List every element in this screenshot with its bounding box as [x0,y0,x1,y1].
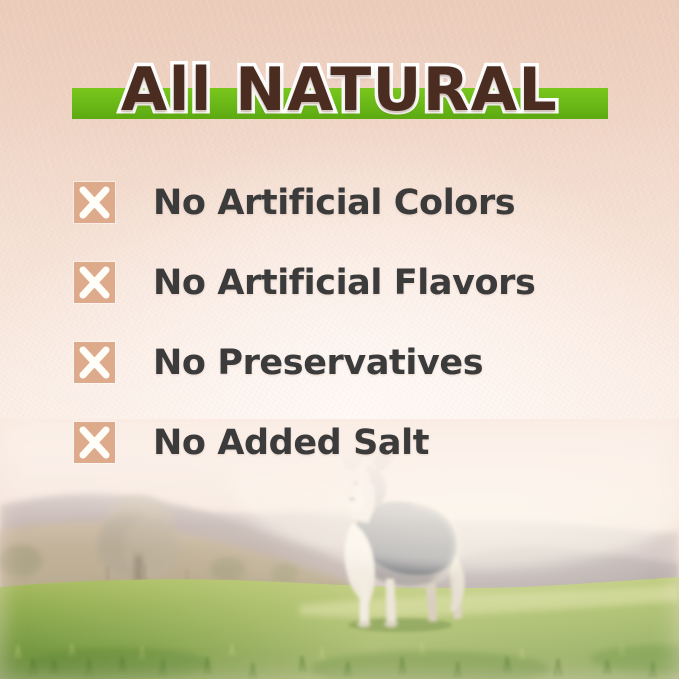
x-mark-icon [74,262,115,303]
list-item: No Artificial Flavors [74,254,634,334]
claim-label: No Artificial Colors [153,174,515,232]
headline-title: All NATURAL [0,52,679,128]
x-mark-icon [74,422,115,463]
list-item: No Artificial Colors [74,174,634,254]
x-mark-icon [74,182,115,223]
claim-label: No Added Salt [153,414,429,472]
claims-list: No Artificial Colors No Artificial Flavo… [74,174,634,494]
claim-label: No Artificial Flavors [153,254,535,312]
list-item: No Added Salt [74,414,634,494]
list-item: No Preservatives [74,334,634,414]
x-mark-icon [74,342,115,383]
all-natural-poster: All NATURAL No Artificial Colors No Arti… [0,0,679,679]
headline-banner: All NATURAL [0,52,679,134]
claim-label: No Preservatives [153,334,483,392]
